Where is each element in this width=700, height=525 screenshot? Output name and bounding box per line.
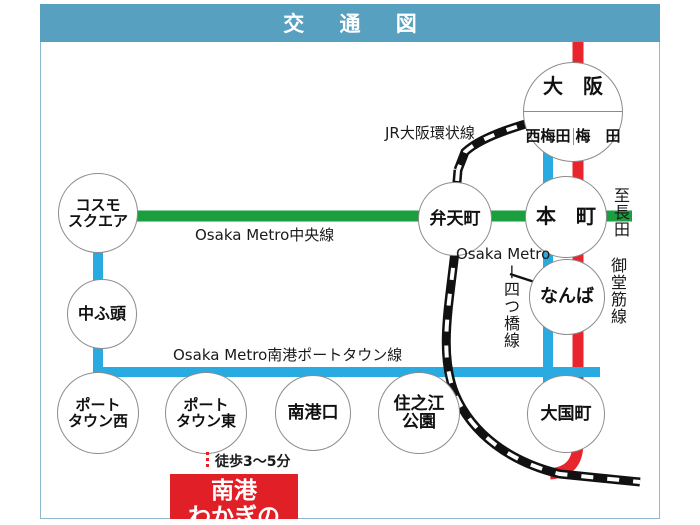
station-suminoe-koen[interactable]: 住之江 公園: [378, 372, 460, 454]
station-label-line1: コスモ: [75, 197, 120, 213]
map-canvas: コスモ スクエア 中ふ頭 ポート タウン西 ポート タウン東 南港口 住之江 公…: [40, 42, 660, 519]
line-label-chuo: Osaka Metro中央線: [195, 224, 334, 245]
transit-map-page: 交 通 図: [0, 0, 700, 525]
station-osaka-umeda[interactable]: 大 阪 西梅田 梅 田: [523, 62, 623, 162]
station-label-line1: 弁天町: [430, 210, 481, 228]
station-porttown-east[interactable]: ポート タウン東: [165, 372, 247, 454]
line-label-porttown: Osaka Metro南港ポートタウン線: [173, 344, 402, 365]
station-porttown-west[interactable]: ポート タウン西: [57, 372, 139, 454]
title-bar: 交 通 図: [40, 4, 660, 42]
station-daikokucho[interactable]: 大国町: [527, 375, 605, 453]
station-cosmosquare[interactable]: コスモ スクエア: [58, 173, 138, 253]
destination-box[interactable]: 南港 わかぎの: [170, 474, 298, 519]
line-label-yotsubashi: ー四つ橋線: [502, 264, 518, 349]
station-label-umeda: 梅 田: [574, 128, 621, 144]
line-label-midosuji: 御堂筋線: [609, 257, 625, 325]
line-label-osaka-metro: Osaka Metro: [456, 245, 550, 263]
page-title: 交 通 図: [269, 8, 431, 38]
line-label-jr-loop: JR大阪環状線: [385, 122, 475, 143]
station-label-line2: 公園: [402, 413, 436, 431]
station-nankoguchi[interactable]: 南港口: [275, 375, 351, 451]
walk-route-dots: [206, 452, 209, 470]
station-label-nishiumeda: 西梅田: [525, 128, 573, 144]
station-label-line2: タウン西: [68, 413, 128, 429]
station-label-line1: ポート: [183, 397, 228, 413]
walk-note: 徒歩3〜5分: [215, 451, 290, 471]
station-nakafuto[interactable]: 中ふ頭: [67, 279, 137, 349]
destination-line2: わかぎの: [188, 505, 280, 519]
station-label-line1: 大国町: [541, 405, 592, 423]
station-label-line1: ポート: [75, 397, 120, 413]
station-label-line1: 中ふ頭: [78, 305, 126, 322]
station-namba[interactable]: なんば: [529, 259, 605, 335]
station-label-line1: 住之江: [394, 395, 445, 413]
station-label-line1: 本 町: [536, 206, 596, 228]
destination-line1: 南港: [211, 479, 257, 505]
station-label-line2: スクエア: [68, 213, 128, 229]
station-label-line1: 南港口: [288, 404, 339, 422]
station-label-line1: なんば: [540, 287, 594, 306]
station-label-osaka: 大 阪: [543, 76, 603, 98]
station-label-line2: タウン東: [176, 413, 236, 429]
line-label-to-nagata: 至長田: [612, 187, 628, 238]
